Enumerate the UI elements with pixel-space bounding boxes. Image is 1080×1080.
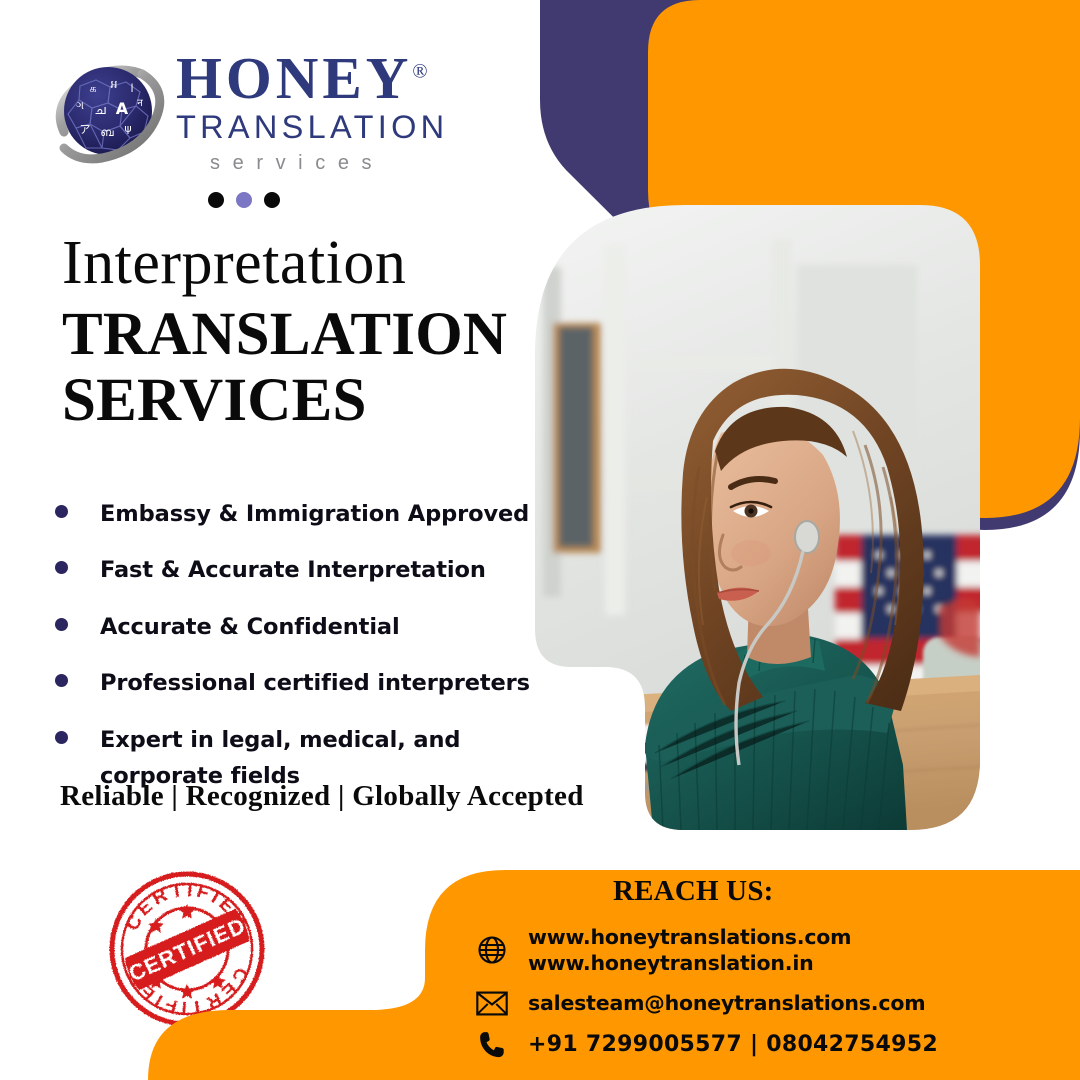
logo-translation-text: TRANSLATION	[176, 109, 476, 146]
globe-languages-icon: க អ ا ગ ച A न ア ബ ψ	[52, 56, 168, 172]
svg-text:ગ: ગ	[76, 99, 84, 112]
list-item: Fast & Accurate Interpretation	[55, 552, 535, 588]
email-row[interactable]: salesteam@honeytranslations.com	[470, 990, 1080, 1016]
svg-text:អ: អ	[111, 78, 118, 91]
feature-text: Embassy & Immigration Approved	[100, 496, 529, 532]
bullet-dot-icon	[55, 505, 68, 518]
registered-trademark-icon: ®	[412, 60, 427, 82]
globe-icon	[470, 935, 514, 965]
svg-text:ア: ア	[80, 123, 91, 136]
tagline: Reliable | Recognized | Globally Accepte…	[60, 780, 584, 813]
svg-text:न: न	[137, 98, 143, 109]
decorative-dots	[208, 192, 280, 208]
svg-text:க: க	[89, 82, 96, 95]
bullet-dot-icon	[55, 561, 68, 574]
bullet-dot-icon	[55, 731, 68, 744]
email-text: salesteam@honeytranslations.com	[528, 990, 925, 1016]
dot-2	[236, 192, 252, 208]
brand-logo: க អ ا ગ ച A न ア ബ ψ HONEY® TRANSLATION s…	[52, 48, 472, 208]
contact-details: REACH US: www.honeytranslations.com www.…	[470, 875, 1080, 1080]
svg-text:ا: ا	[130, 82, 133, 95]
bullet-dot-icon	[55, 674, 68, 687]
list-item: Embassy & Immigration Approved	[55, 496, 535, 532]
hero-photo	[535, 205, 980, 830]
envelope-icon	[470, 991, 514, 1016]
svg-text:A: A	[116, 99, 129, 118]
logo-wordmark: HONEY®	[176, 48, 428, 108]
phone-text: +91 7299005577 | 08042754952	[528, 1031, 938, 1059]
features-list: Embassy & Immigration Approved Fast & Ac…	[55, 496, 535, 795]
list-item: Accurate & Confidential	[55, 609, 535, 645]
feature-text: Accurate & Confidential	[100, 609, 400, 645]
phone-icon	[470, 1031, 514, 1060]
phone-row[interactable]: +91 7299005577 | 08042754952	[470, 1031, 1080, 1060]
dot-3	[264, 192, 280, 208]
feature-text: Professional certified interpreters	[100, 665, 530, 701]
svg-text:ψ: ψ	[124, 122, 131, 135]
logo-honey-text: HONEY	[176, 45, 412, 111]
list-item: Professional certified interpreters	[55, 665, 535, 701]
bullet-dot-icon	[55, 618, 68, 631]
website-row[interactable]: www.honeytranslations.com www.honeytrans…	[470, 924, 1080, 976]
reach-us-heading: REACH US:	[613, 875, 1080, 908]
dot-1	[208, 192, 224, 208]
svg-text:ബ: ബ	[100, 126, 114, 139]
website-text: www.honeytranslations.com www.honeytrans…	[528, 924, 851, 976]
headline-bold-lines: TRANSLATION SERVICES	[62, 302, 532, 434]
logo-services-text: services	[176, 152, 476, 175]
feature-text: Fast & Accurate Interpretation	[100, 552, 486, 588]
headline-script-line: Interpretation	[62, 232, 532, 294]
headline-block: Interpretation TRANSLATION SERVICES	[62, 232, 532, 434]
svg-text:ച: ച	[94, 103, 106, 118]
